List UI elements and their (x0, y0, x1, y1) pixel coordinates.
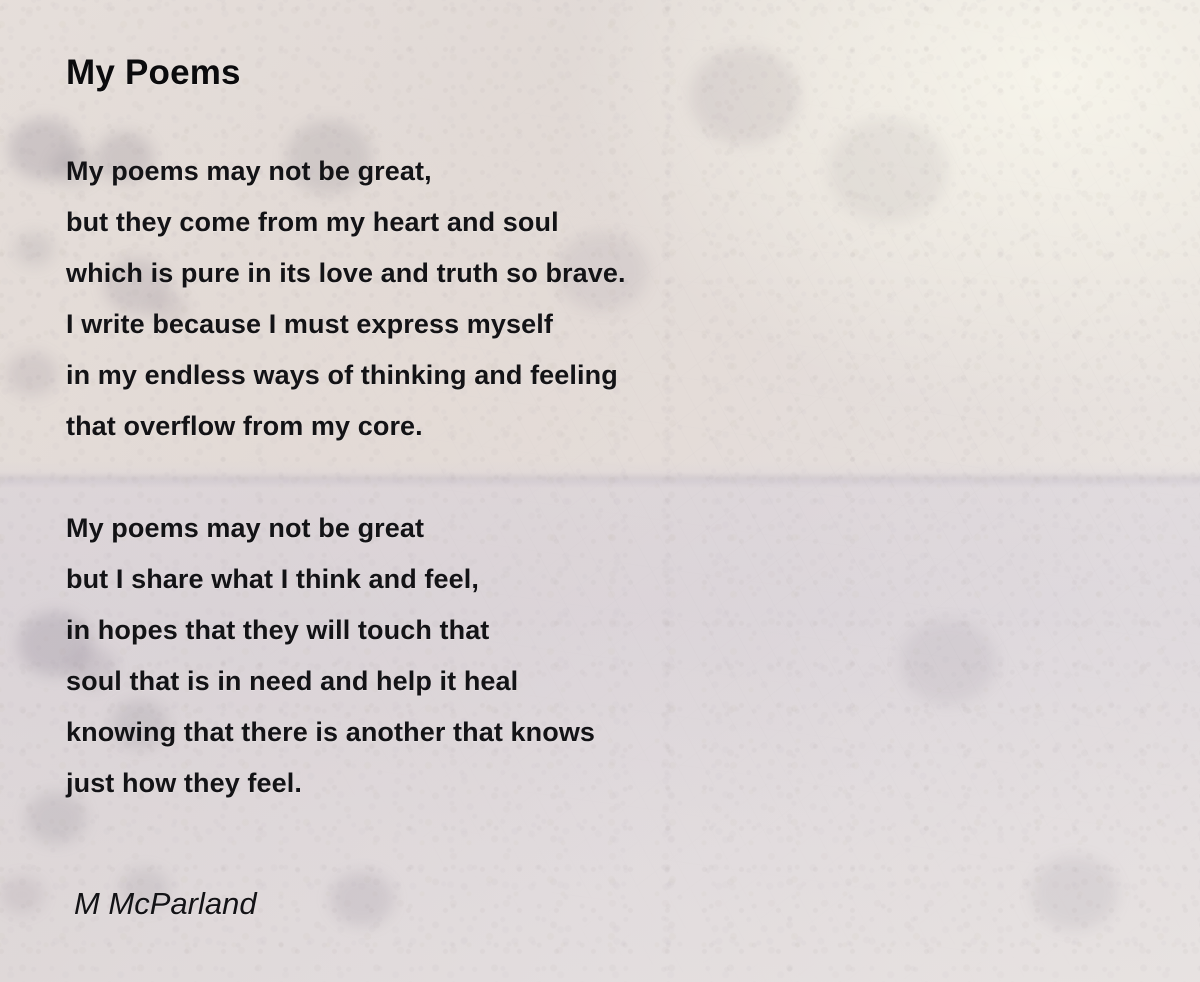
poem-body: My poems may not be great,but they come … (66, 146, 1140, 809)
poem-line: but they come from my heart and soul (66, 197, 1140, 248)
poem-line: My poems may not be great (66, 503, 1140, 554)
poem-stanza: My poems may not be great,but they come … (66, 146, 1140, 452)
poem-line: soul that is in need and help it heal (66, 656, 1140, 707)
poem-line: I write because I must express myself (66, 299, 1140, 350)
poem-line: but I share what I think and feel, (66, 554, 1140, 605)
poem-author: M McParland (74, 885, 257, 923)
poem-stanza: My poems may not be greatbut I share wha… (66, 503, 1140, 809)
poem-line: knowing that there is another that knows (66, 707, 1140, 758)
poem-line: in hopes that they will touch that (66, 605, 1140, 656)
page-title: My Poems (66, 52, 1140, 94)
poem-line: My poems may not be great, (66, 146, 1140, 197)
poem-line: which is pure in its love and truth so b… (66, 248, 1140, 299)
poem-line: just how they feel. (66, 758, 1140, 809)
poem-content: My Poems My poems may not be great,but t… (0, 0, 1200, 982)
poem-line: that overflow from my core. (66, 401, 1140, 452)
poem-line: in my endless ways of thinking and feeli… (66, 350, 1140, 401)
poem-card: My Poems My poems may not be great,but t… (0, 0, 1200, 982)
